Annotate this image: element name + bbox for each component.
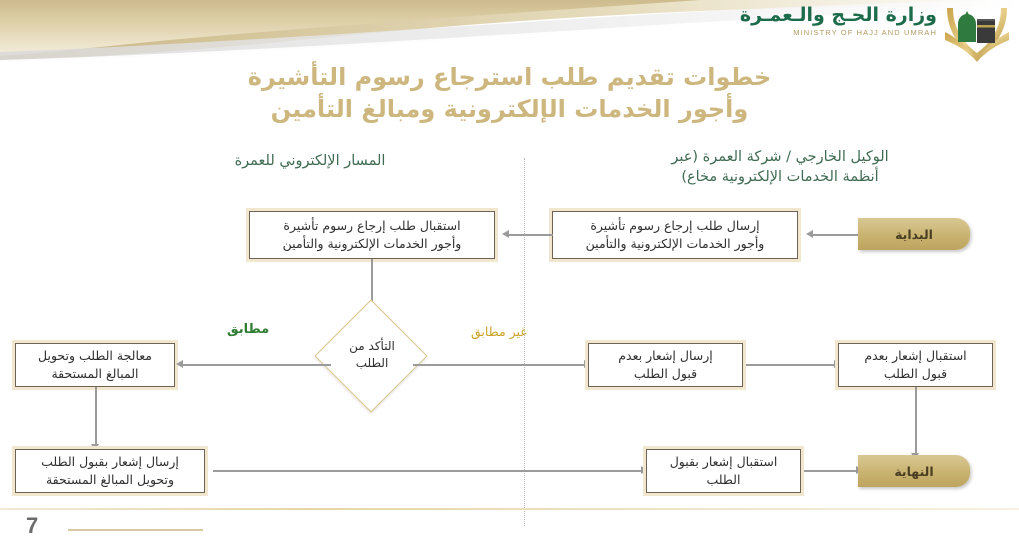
column-heading-right: الوكيل الخارجي / شركة العمرة (عبر أنظمة …: [600, 148, 960, 187]
connector-decision-to-process: [183, 364, 331, 366]
terminator-end: النهاية: [858, 455, 970, 487]
hajj-umrah-emblem-icon: [939, 2, 1015, 64]
decision-verify-request: التأكد من الطلب: [333, 316, 411, 394]
connector-start-to-send: [812, 234, 858, 236]
connector-acceptance-to-receive: [213, 470, 643, 472]
connector-receive-rejection-to-end: [915, 387, 917, 455]
footer-divider: [0, 508, 1019, 510]
node-send-request-line2: وأجور الخدمات الإلكترونية والتأمين: [586, 235, 765, 253]
page-number: 7: [26, 513, 38, 539]
connector-receive-to-decision: [371, 259, 373, 305]
decision-label-line1: التأكد من: [349, 338, 395, 355]
page-title-line2: وأجور الخدمات الإلكترونية ومبالغ التأمين: [0, 94, 1019, 126]
node-receive-rejection-line1: استقبال إشعار بعدم: [864, 347, 966, 365]
node-receive-acceptance: استقبال إشعار بقبول الطلب: [646, 449, 801, 493]
terminator-start: البداية: [858, 218, 970, 250]
node-receive-request: استقبال طلب إرجاع رسوم تأشيرة وأجور الخد…: [249, 211, 495, 259]
branch-label-match: مطابق: [227, 322, 269, 337]
node-process-and-transfer: معالجة الطلب وتحويل المبالغ المستحقة: [15, 343, 175, 387]
node-receive-rejection: استقبال إشعار بعدم قبول الطلب: [838, 343, 993, 387]
branch-label-no-match: غير مطابق: [471, 324, 527, 339]
brand-name-en: MINISTRY OF HAJJ AND UMRAH: [740, 29, 937, 37]
node-send-request-line1: إرسال طلب إرجاع رسوم تأشيرة: [586, 217, 765, 235]
decision-label-line2: الطلب: [349, 355, 395, 372]
page-number-rule: [68, 529, 203, 531]
node-send-rejection: إرسال إشعار بعدم قبول الطلب: [588, 343, 743, 387]
node-send-acceptance-line2: وتحويل المبالغ المستحقة: [41, 471, 179, 489]
node-process-line1: معالجة الطلب وتحويل: [38, 347, 152, 365]
node-receive-request-line1: استقبال طلب إرجاع رسوم تأشيرة: [283, 217, 462, 235]
column-heading-left: المسار الإلكتروني للعمرة: [150, 152, 470, 172]
connector-receive-acceptance-to-end: [804, 470, 858, 472]
node-receive-acceptance-line2: الطلب: [670, 471, 778, 489]
connector-decision-to-rejection: [413, 364, 585, 366]
column-heading-right-line1: الوكيل الخارجي / شركة العمرة (عبر: [600, 148, 960, 168]
node-send-acceptance-line1: إرسال إشعار بقبول الطلب: [41, 453, 179, 471]
arrowhead-decision-to-process: [176, 360, 183, 368]
connector-send-to-receive: [509, 234, 553, 236]
brand-lockup: وزارة الحـج والـعمـرة MINISTRY OF HAJJ A…: [740, 6, 937, 37]
node-send-request: إرسال طلب إرجاع رسوم تأشيرة وأجور الخدما…: [552, 211, 798, 259]
node-receive-rejection-line2: قبول الطلب: [864, 365, 966, 383]
node-process-line2: المبالغ المستحقة: [38, 365, 152, 383]
column-heading-right-line2: أنظمة الخدمات الإلكترونية مخاع): [600, 168, 960, 188]
node-receive-acceptance-line1: استقبال إشعار بقبول: [670, 453, 778, 471]
node-receive-request-line2: وأجور الخدمات الإلكترونية والتأمين: [283, 235, 462, 253]
page-title-line1: خطوات تقديم طلب استرجاع رسوم التأشيرة: [248, 63, 772, 91]
node-send-rejection-line2: قبول الطلب: [618, 365, 712, 383]
connector-rejection-to-receive: [746, 364, 836, 366]
connector-process-to-acceptance: [95, 387, 97, 446]
slide-canvas: وزارة الحـج والـعمـرة MINISTRY OF HAJJ A…: [0, 0, 1019, 548]
arrowhead-start-to-send: [806, 230, 813, 238]
decision-label: التأكد من الطلب: [333, 316, 411, 394]
arrowhead-send-to-receive: [502, 230, 509, 238]
page-title: خطوات تقديم طلب استرجاع رسوم التأشيرة وأ…: [0, 62, 1019, 125]
node-send-rejection-line1: إرسال إشعار بعدم: [618, 347, 712, 365]
brand-name-ar: وزارة الحـج والـعمـرة: [740, 6, 937, 25]
node-send-acceptance: إرسال إشعار بقبول الطلب وتحويل المبالغ ا…: [15, 449, 205, 493]
